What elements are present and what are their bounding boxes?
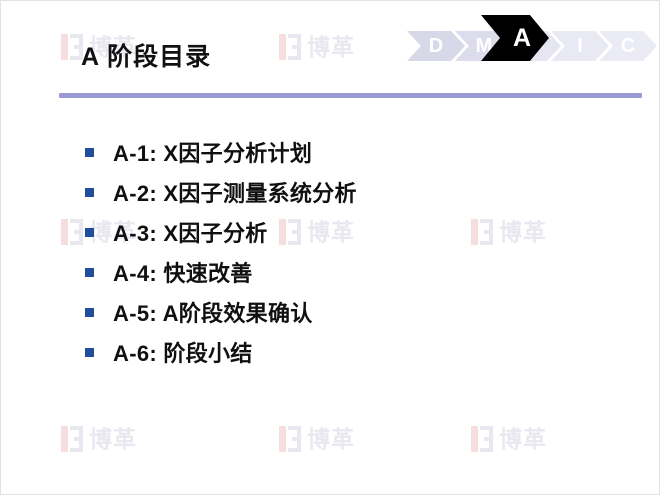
watermark-text: 博革 xyxy=(499,221,547,244)
watermark-text: 博革 xyxy=(499,428,547,451)
bullet-square-icon xyxy=(85,308,94,317)
brand-logo-icon xyxy=(471,426,493,452)
agenda-item-label: A-3: X因子分析 xyxy=(113,216,268,248)
brand-logo-icon xyxy=(61,426,83,452)
watermark-text: 博革 xyxy=(89,428,137,451)
watermark-text: 博革 xyxy=(307,428,355,451)
agenda-item-label: A-5: A阶段效果确认 xyxy=(113,296,313,328)
agenda-item[interactable]: A-2: X因子测量系统分析 xyxy=(85,172,357,212)
agenda-item-label: A-2: X因子测量系统分析 xyxy=(113,176,357,208)
agenda-item[interactable]: A-1: X因子分析计划 xyxy=(85,132,357,172)
slide-canvas: 博革博革博革博革博革博革博革博革博革 D M I C A A 阶段目录 A-1:… xyxy=(0,0,660,495)
agenda-item[interactable]: A-3: X因子分析 xyxy=(85,212,357,252)
agenda-item[interactable]: A-6: 阶段小结 xyxy=(85,332,357,372)
bullet-square-icon xyxy=(85,148,94,157)
brand-logo-icon xyxy=(471,219,493,245)
agenda-item[interactable]: A-4: 快速改善 xyxy=(85,252,357,292)
watermark-logo: 博革 xyxy=(471,219,547,245)
agenda-item-label: A-6: 阶段小结 xyxy=(113,336,253,368)
brand-logo-icon xyxy=(61,219,83,245)
agenda-list: A-1: X因子分析计划A-2: X因子测量系统分析A-3: X因子分析A-4:… xyxy=(85,132,357,372)
dmaic-active-label: A xyxy=(499,26,531,51)
bullet-square-icon xyxy=(85,228,94,237)
watermark-logo: 博革 xyxy=(61,426,137,452)
bullet-square-icon xyxy=(85,268,94,277)
dmaic-chevron-d: D xyxy=(407,31,465,61)
dmaic-phase-banner: D M I C A xyxy=(407,31,657,61)
brand-logo-icon xyxy=(61,34,83,60)
title-divider xyxy=(59,93,642,98)
watermark-logo: 博革 xyxy=(279,426,355,452)
bullet-square-icon xyxy=(85,348,94,357)
brand-logo-icon xyxy=(279,34,301,60)
watermark-text: 博革 xyxy=(307,36,355,59)
bullet-square-icon xyxy=(85,188,94,197)
agenda-item-label: A-4: 快速改善 xyxy=(113,256,253,288)
brand-logo-icon xyxy=(279,426,301,452)
agenda-item-label: A-1: X因子分析计划 xyxy=(113,136,312,168)
page-title: A 阶段目录 xyxy=(81,37,211,73)
watermark-logo: 博革 xyxy=(279,34,355,60)
watermark-logo: 博革 xyxy=(471,426,547,452)
agenda-item[interactable]: A-5: A阶段效果确认 xyxy=(85,292,357,332)
